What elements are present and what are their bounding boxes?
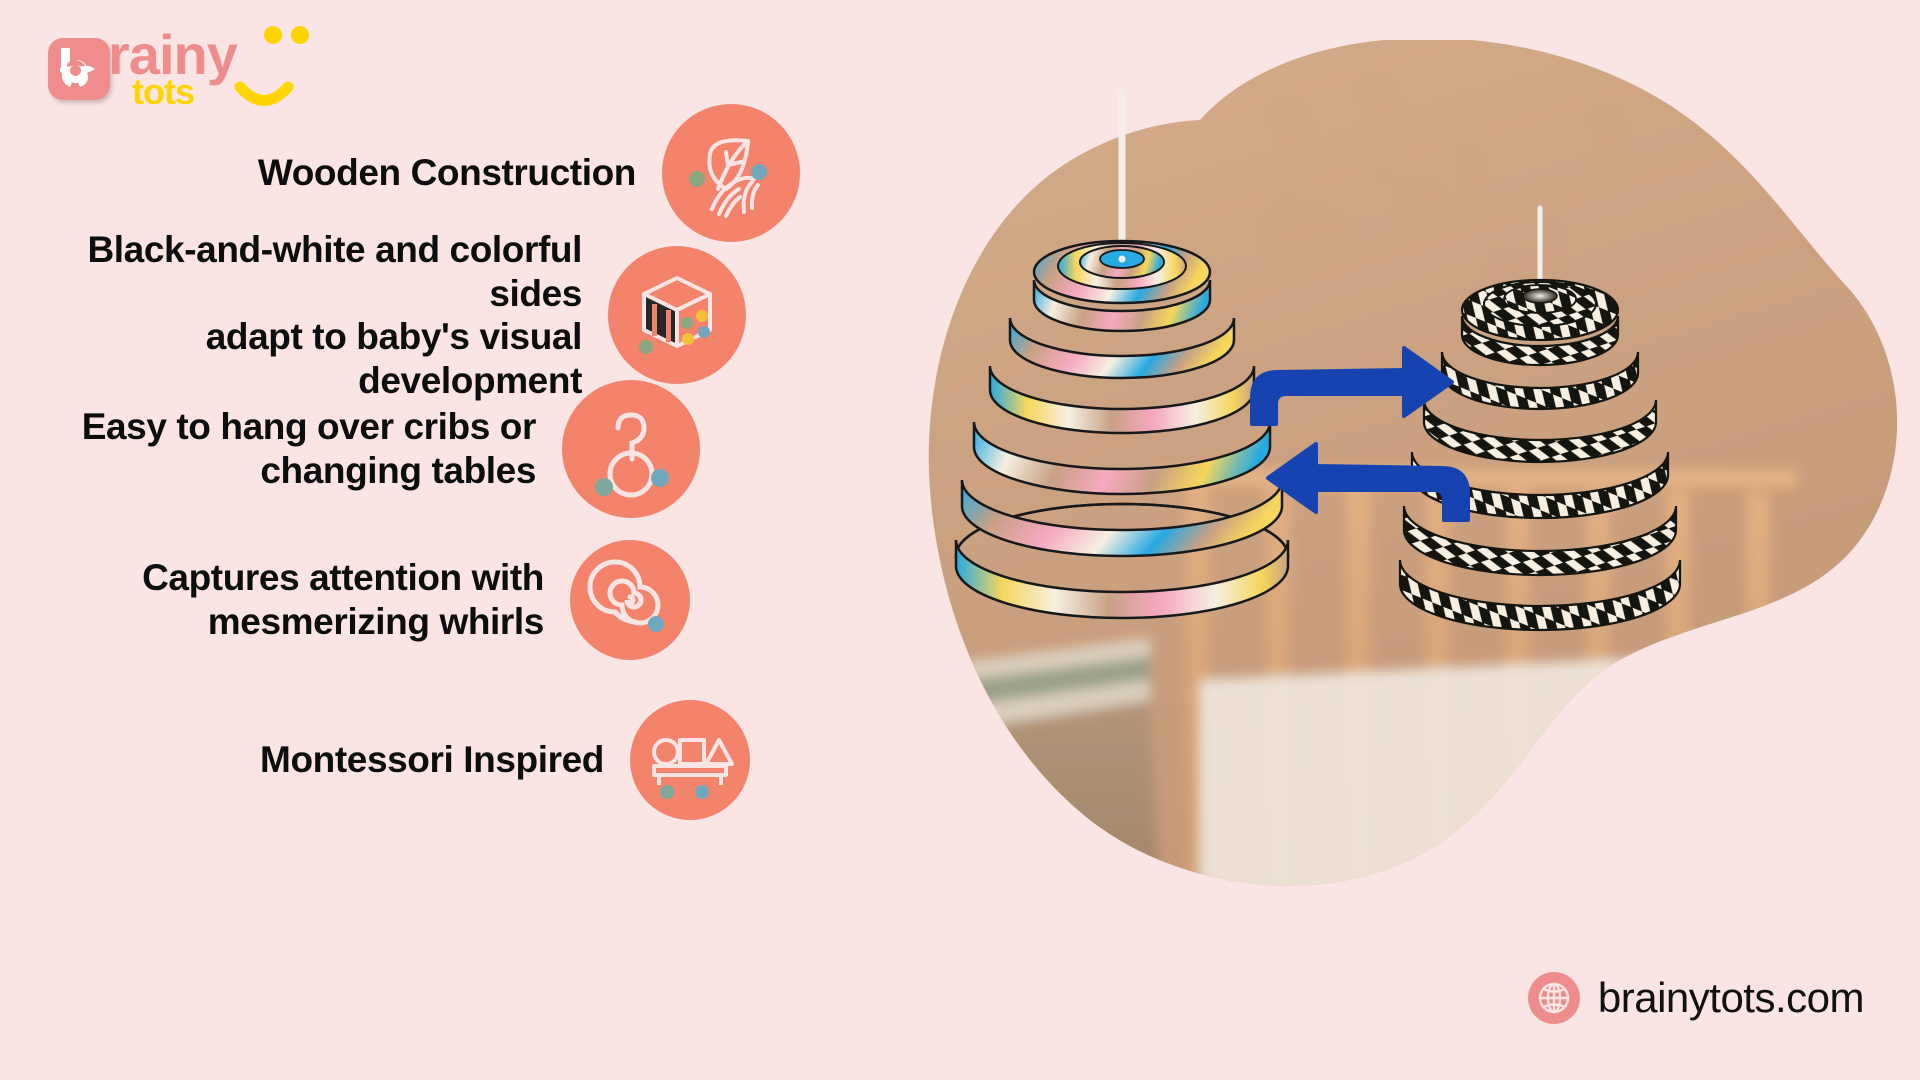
- feature-item-wooden-construction: Wooden Construction: [0, 104, 800, 242]
- shapes-on-shelf-icon: [630, 700, 750, 820]
- product-scene: [900, 40, 1910, 900]
- feature-label: Wooden Construction: [258, 151, 636, 195]
- feature-label: Easy to hang over cribs or changing tabl…: [82, 405, 536, 492]
- feature-label: Montessori Inspired: [260, 738, 604, 782]
- globe-icon: [1528, 972, 1580, 1024]
- feature-label: Black-and-white and colorful sides adapt…: [0, 228, 582, 403]
- infographic-canvas: rainy tots Wooden Construction: [0, 0, 1920, 1080]
- website-url: brainytots.com: [1598, 974, 1864, 1022]
- feature-item-easy-to-hang: Easy to hang over cribs or changing tabl…: [0, 380, 700, 518]
- striped-cube-icon: [608, 246, 746, 384]
- wood-grain-leaf-icon: [662, 104, 800, 242]
- feature-item-visual-development: Black-and-white and colorful sides adapt…: [0, 228, 746, 403]
- feature-label: Captures attention with mesmerizing whir…: [142, 556, 544, 643]
- spiral-whirl-icon: [570, 540, 690, 660]
- feature-list: Wooden Construction: [0, 0, 830, 1080]
- feature-item-mesmerizing-whirls: Captures attention with mesmerizing whir…: [0, 540, 690, 660]
- footer-website[interactable]: brainytots.com: [1528, 972, 1864, 1024]
- hanging-hook-icon: [562, 380, 700, 518]
- feature-item-montessori-inspired: Montessori Inspired: [0, 700, 750, 820]
